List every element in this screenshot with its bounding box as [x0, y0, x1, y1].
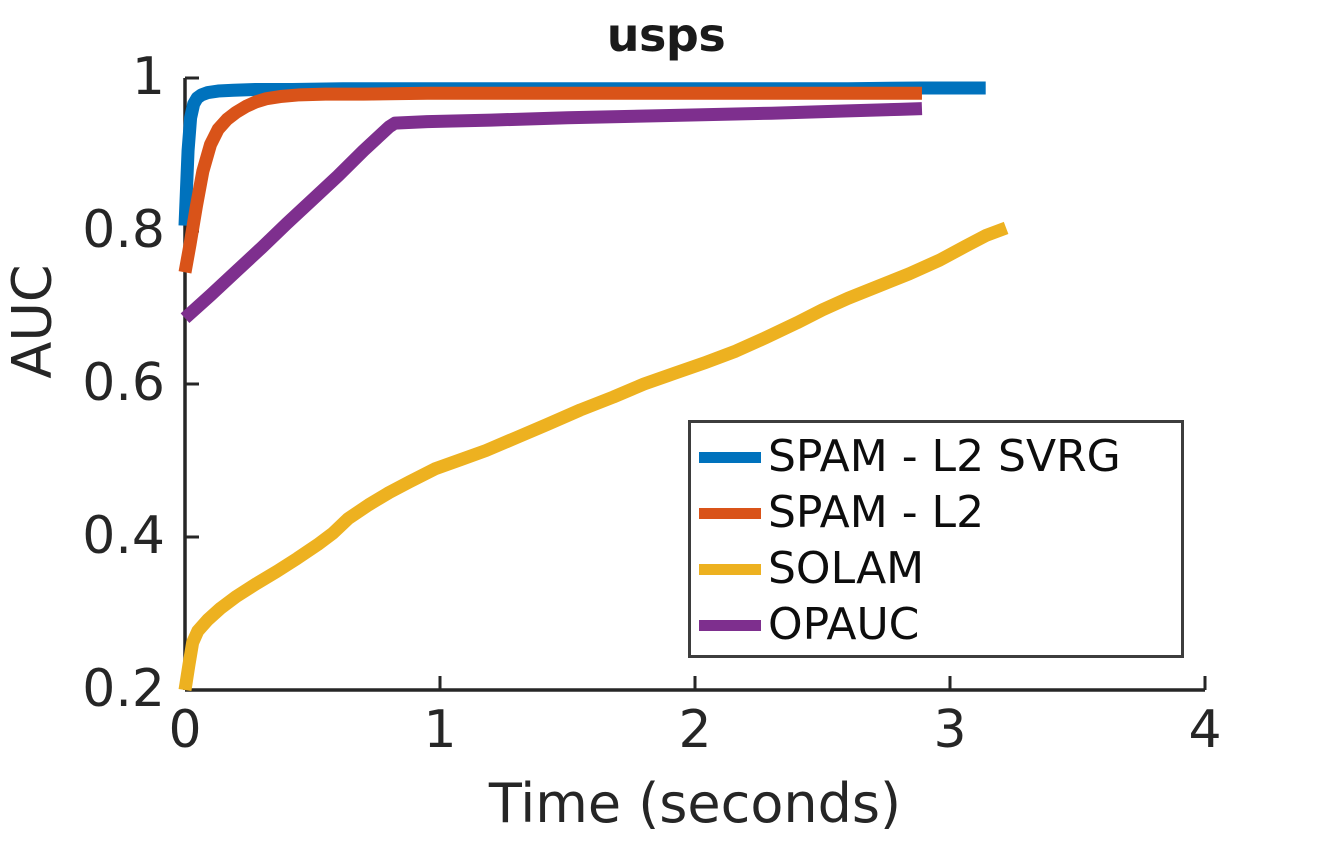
figure-canvas: usps AUC Time (seconds) 1 0.8 0.6 0.4 0.…	[0, 0, 1332, 851]
legend-swatch-solam	[699, 564, 761, 575]
legend-label-opauc: OPAUC	[768, 603, 919, 647]
legend-item-opauc[interactable]: OPAUC	[691, 597, 1181, 653]
legend-label-spam-l2-svrg: SPAM - L2 SVRG	[768, 435, 1121, 479]
legend-swatch-spam-l2-svrg	[699, 452, 761, 463]
legend-swatch-opauc	[699, 620, 761, 631]
series-line-opauc	[185, 109, 922, 319]
legend-item-spam-l2[interactable]: SPAM - L2	[691, 485, 1181, 541]
legend-item-solam[interactable]: SOLAM	[691, 541, 1181, 597]
legend: SPAM - L2 SVRG SPAM - L2 SOLAM OPAUC	[688, 420, 1184, 658]
legend-label-solam: SOLAM	[768, 547, 924, 591]
legend-label-spam-l2: SPAM - L2	[768, 491, 984, 535]
legend-swatch-spam-l2	[699, 508, 761, 519]
legend-item-spam-l2-svrg[interactable]: SPAM - L2 SVRG	[691, 429, 1181, 485]
